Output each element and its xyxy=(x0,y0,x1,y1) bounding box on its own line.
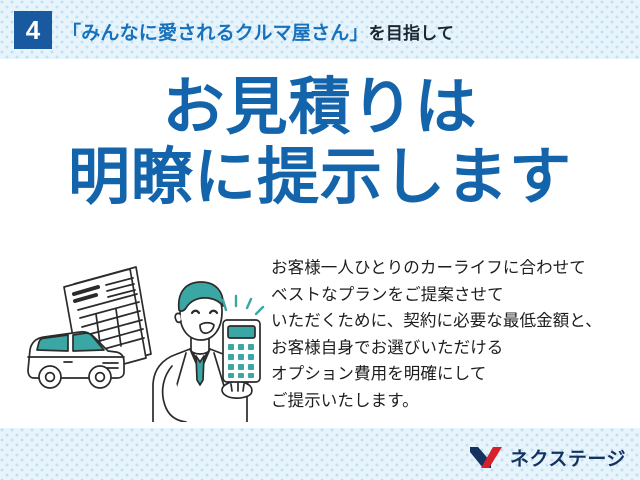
body-copy: お客様一人ひとりのカーライフに合わせて ベストなプランをご提案させて いただくた… xyxy=(271,255,637,414)
nextage-n-mark-icon xyxy=(469,446,503,469)
calculator-icon xyxy=(223,320,260,382)
sparkle-icon xyxy=(223,296,263,314)
step-number-badge: 4 xyxy=(14,11,52,49)
body-copy-line: お客様自身でお選びいただける xyxy=(271,335,637,362)
body-copy-line: いただくために、契約に必要な最低金額と、 xyxy=(271,308,637,335)
body-copy-line: ベストなプランをご提案させて xyxy=(271,282,637,309)
sales-staff-illustration xyxy=(20,258,272,422)
body-copy-line: オプション費用を明確にして xyxy=(271,361,637,388)
body-copy-line: ご提示いたします。 xyxy=(271,388,637,415)
brand-name: ネクステージ xyxy=(510,444,626,471)
header-title-tail: を目指して xyxy=(369,19,455,44)
headline: お見積りは 明瞭に提示します xyxy=(0,76,640,210)
header-title-quoted: 「みんなに愛されるクルマ屋さん」 xyxy=(62,18,369,45)
headline-line-1: お見積りは xyxy=(0,76,640,140)
header-title: 「みんなに愛されるクルマ屋さん」を目指して xyxy=(62,16,454,46)
body-copy-line: お客様一人ひとりのカーライフに合わせて xyxy=(271,255,637,282)
promotional-banner: 4 「みんなに愛されるクルマ屋さん」を目指して お見積りは 明瞭に提示します お… xyxy=(0,0,640,480)
brand-logo: ネクステージ xyxy=(469,444,626,470)
headline-line-2: 明瞭に提示します xyxy=(0,146,640,210)
illustration-graphic xyxy=(20,258,272,422)
